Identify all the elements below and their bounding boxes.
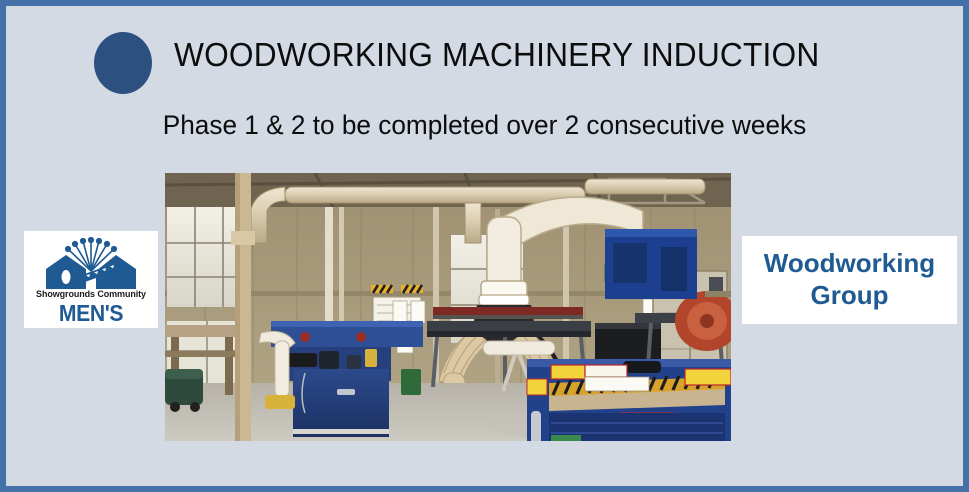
mens-shed-logo-card: Showgrounds Community MEN'S SHED (24, 231, 158, 328)
circle-bullet-icon (94, 32, 152, 94)
title-row: WOODWORKING MACHINERY INDUCTION (6, 18, 963, 90)
caption-line-2: Group (811, 280, 889, 312)
subtitle-text: Phase 1 & 2 to be completed over 2 conse… (20, 110, 948, 141)
logo-tagline: Showgrounds Community (24, 289, 158, 299)
mens-shed-logo-icon (24, 235, 158, 289)
page-title: WOODWORKING MACHINERY INDUCTION (174, 36, 819, 74)
slide-canvas: WOODWORKING MACHINERY INDUCTION Phase 1 … (0, 0, 969, 492)
caption-line-1: Woodworking (764, 248, 935, 280)
logo-name: MEN'S SHED (29, 300, 152, 328)
workshop-photo (165, 173, 731, 441)
woodworking-group-caption: Woodworking Group (742, 236, 957, 324)
